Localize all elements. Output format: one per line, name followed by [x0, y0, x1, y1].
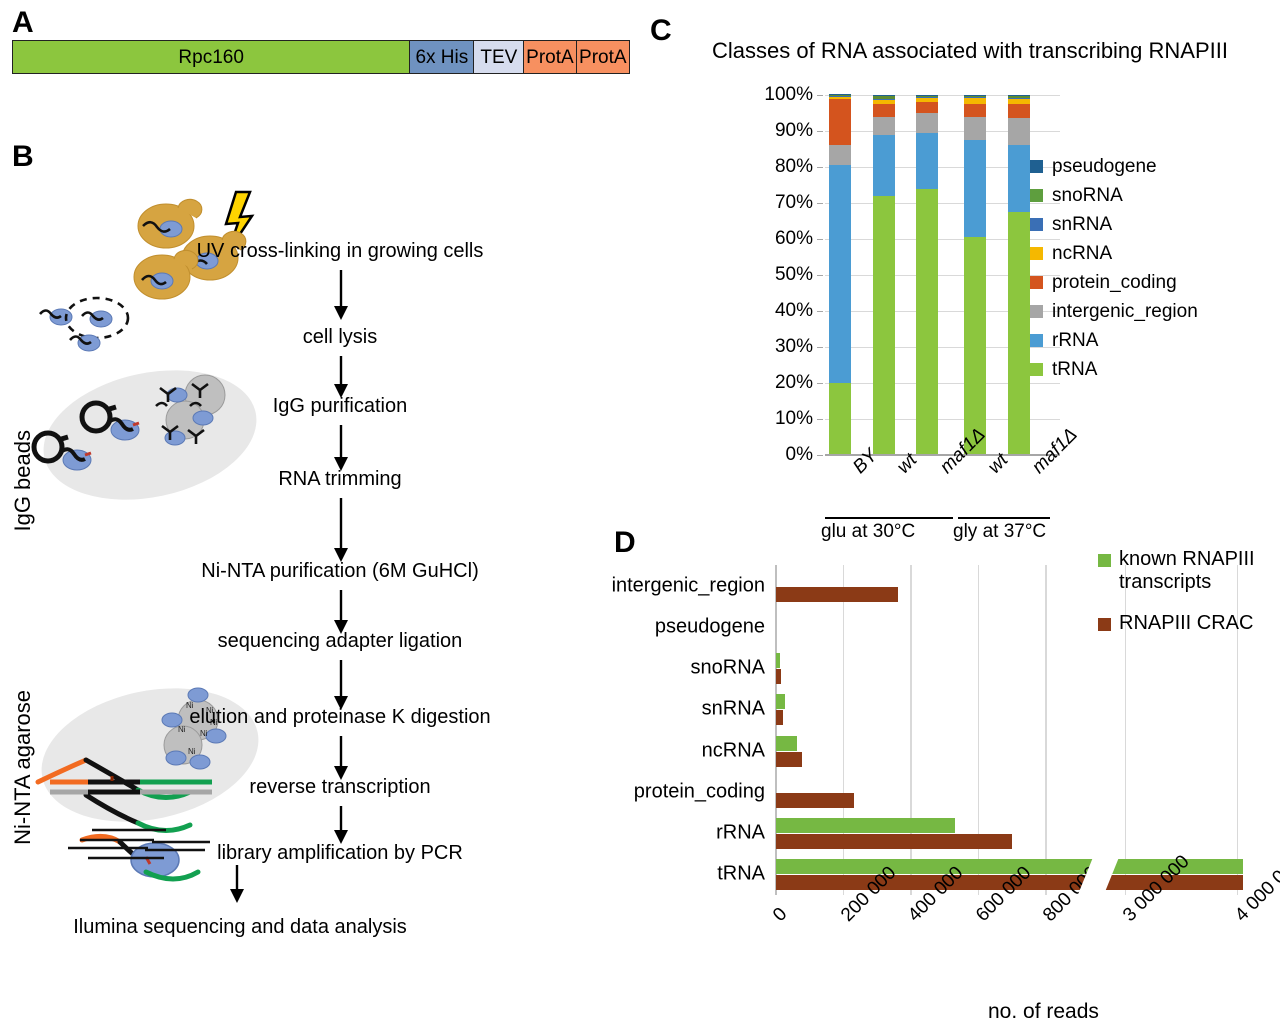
y-axis-category-label: ncRNA — [585, 739, 765, 762]
flow-step-uv-crosslinking: UV cross-linking in growing cells — [120, 240, 560, 263]
y-axis-tick-mark — [817, 203, 823, 204]
legend-swatch — [1030, 305, 1043, 318]
y-axis-tick-mark — [817, 311, 823, 312]
y-axis-category-label: snoRNA — [585, 657, 765, 680]
bar-segment-rrna — [916, 133, 938, 189]
bar-segment-rrna — [829, 165, 851, 383]
bar-segment-trna — [964, 237, 986, 455]
bar-segment-rrna — [1008, 145, 1030, 212]
svg-text:Ni: Ni — [188, 747, 196, 756]
legend-swatch — [1030, 160, 1043, 173]
legend-label: tRNA — [1052, 359, 1097, 381]
construct-segment-label: Rpc160 — [178, 48, 244, 67]
legend-item-trna[interactable]: tRNA — [1030, 355, 1198, 384]
legend-swatch — [1030, 218, 1043, 231]
y-axis-tick-mark — [817, 347, 823, 348]
flow-step-cell-lysis: cell lysis — [120, 326, 560, 349]
bar-segment-ncrna — [1008, 98, 1030, 104]
x-axis-tick-label: 400 000 — [904, 862, 968, 926]
legend-item-rnapiii-crac[interactable]: RNAPIII CRAC — [1098, 612, 1280, 635]
flow-step-rna-trimming: RNA trimming — [120, 468, 560, 491]
y-axis-category-label: tRNA — [585, 863, 765, 886]
stacked-bar — [829, 95, 851, 455]
legend-swatch — [1098, 618, 1111, 631]
legend-item-ncrna[interactable]: ncRNA — [1030, 239, 1198, 268]
flow-step-library-amplification: library amplification by PCR — [100, 842, 580, 865]
x-axis-tick-label: 600 000 — [972, 862, 1036, 926]
flow-arrow-3 — [329, 425, 353, 473]
flow-step-reverse-transcription: reverse transcription — [100, 776, 580, 799]
y-axis-tick-mark — [817, 239, 823, 240]
y-axis-category-label: rRNA — [585, 822, 765, 845]
y-axis-tick-label: 70% — [743, 192, 813, 214]
bar-segment-snrna — [964, 97, 986, 98]
legend-label: RNAPIII CRAC — [1119, 612, 1253, 635]
x-axis-tick-label: 200 000 — [837, 862, 901, 926]
flow-step-adapter-ligation: sequencing adapter ligation — [100, 630, 580, 653]
panel-d-x-axis-title: no. of reads — [988, 1000, 1099, 1024]
legend-swatch — [1030, 189, 1043, 202]
flow-arrow-1 — [329, 270, 353, 322]
free-polymerase-group — [40, 298, 128, 351]
bar-segment-trna — [1008, 212, 1030, 455]
y-axis-category-label: pseudogene — [585, 615, 765, 638]
bar-segment-snrna — [1008, 98, 1030, 99]
stacked-bar — [873, 95, 895, 455]
bar-segment-pseudogene — [873, 95, 895, 96]
bar-segment-intergenic_region — [829, 145, 851, 165]
flow-arrow-6 — [329, 660, 353, 712]
y-axis-tick-mark — [817, 455, 823, 456]
svg-text:Ni: Ni — [200, 729, 208, 738]
y-axis-tick-label: 40% — [743, 300, 813, 322]
y-axis-tick-mark — [817, 383, 823, 384]
bar-segment-snorna — [1008, 95, 1030, 97]
bar-segment-protein_coding — [873, 104, 895, 117]
panel-b: B IgG beads Ni-NTA agarose — [0, 130, 650, 960]
final-flow-arrow — [225, 865, 249, 905]
bar-segment-ncrna — [829, 97, 851, 98]
legend-label: pseudogene — [1052, 156, 1157, 178]
legend-label: intergenic_region — [1052, 301, 1198, 323]
panel-c-legend: pseudogenesnoRNAsnRNAncRNAprotein_coding… — [1030, 152, 1198, 384]
x-axis-tick-label: 4 000 000 — [1231, 851, 1280, 926]
y-axis-category-label: snRNA — [585, 698, 765, 721]
construct-segment-his: 6x His — [410, 41, 474, 73]
bar-segment-ncrna — [916, 98, 938, 102]
group-underline — [958, 517, 1050, 519]
legend-item-intergenic_region[interactable]: intergenic_region — [1030, 297, 1198, 326]
legend-label: snRNA — [1052, 214, 1112, 236]
bar-segment-snorna — [916, 95, 938, 97]
flow-step-illumina-sequencing: Ilumina sequencing and data analysis — [0, 916, 480, 939]
flow-arrow-2 — [329, 356, 353, 400]
y-axis-tick-label: 90% — [743, 120, 813, 142]
bar-segment-rrna — [964, 140, 986, 237]
y-axis-category-label: protein_coding — [585, 780, 765, 803]
flow-arrow-8 — [329, 806, 353, 846]
flow-arrow-4 — [329, 498, 353, 564]
y-axis-tick-label: 20% — [743, 372, 813, 394]
y-axis-tick-label: 10% — [743, 408, 813, 430]
bar-segment-intergenic_region — [1008, 118, 1030, 145]
rpc160-construct-diagram: Rpc160 6x His TEV ProtA ProtA — [12, 40, 630, 74]
bar-segment-snorna — [964, 95, 986, 97]
legend-swatch — [1030, 363, 1043, 376]
legend-label: rRNA — [1052, 330, 1098, 352]
legend-item-known-transcripts[interactable]: known RNAPIII transcripts — [1098, 548, 1280, 594]
panel-a-letter: A — [12, 6, 34, 40]
panel-c-letter: C — [650, 14, 672, 48]
bar-segment-protein_coding — [829, 99, 851, 146]
flow-step-elution-proteinase: elution and proteinase K digestion — [100, 706, 580, 729]
legend-label: protein_coding — [1052, 272, 1177, 294]
y-axis-tick-label: 0% — [743, 444, 813, 466]
bar-segment-intergenic_region — [873, 117, 895, 135]
legend-label: snoRNA — [1052, 185, 1123, 207]
construct-segment-label: ProtA — [526, 48, 574, 67]
y-axis-category-label: intergenic_region — [585, 574, 765, 597]
y-axis-tick-mark — [817, 167, 823, 168]
y-axis-tick-label: 50% — [743, 264, 813, 286]
legend-item-snorna[interactable]: snoRNA — [1030, 181, 1198, 210]
flow-step-ni-nta-purification: Ni-NTA purification (6M GuHCl) — [100, 560, 580, 583]
construct-segment-tev: TEV — [474, 41, 524, 73]
construct-segment-label: 6x His — [415, 48, 468, 67]
bar-segment-rrna — [873, 135, 895, 196]
x-axis-baseline — [825, 454, 1060, 456]
legend-swatch — [1030, 247, 1043, 260]
legend-item-pseudogene[interactable]: pseudogene — [1030, 152, 1198, 181]
bar-segment-snrna — [916, 97, 938, 98]
construct-segment-rpc160: Rpc160 — [13, 41, 410, 73]
panel-c-plot-area — [825, 95, 1060, 455]
bar-segment-protein_coding — [964, 104, 986, 117]
construct-segment-label: TEV — [480, 48, 517, 67]
stacked-bar — [964, 95, 986, 455]
construct-segment-label: ProtA — [579, 48, 627, 67]
y-axis-tick-mark — [817, 419, 823, 420]
bar-segment-snorna — [873, 96, 895, 99]
legend-item-snrna[interactable]: snRNA — [1030, 210, 1198, 239]
legend-swatch — [1098, 554, 1111, 567]
y-axis-tick-mark — [817, 275, 823, 276]
bar-segment-snorna — [829, 94, 851, 96]
bar-segment-snrna — [829, 96, 851, 97]
bar-segment-protein_coding — [916, 102, 938, 113]
y-axis-tick-label: 30% — [743, 336, 813, 358]
bar-segment-trna — [916, 189, 938, 455]
y-axis-tick-mark — [817, 95, 823, 96]
bar-segment-ncrna — [964, 98, 986, 104]
bar-segment-protein_coding — [1008, 104, 1030, 118]
bar-segment-ncrna — [873, 99, 895, 104]
legend-label: ncRNA — [1052, 243, 1112, 265]
bar-segment-intergenic_region — [916, 113, 938, 133]
x-axis-tick-label: 0 — [769, 904, 792, 927]
legend-swatch — [1030, 334, 1043, 347]
bar-segment-snrna — [873, 99, 895, 100]
stacked-bar — [1008, 95, 1030, 455]
flow-step-igg-purification: IgG purification — [120, 395, 560, 418]
bar-segment-trna — [873, 196, 895, 455]
panel-c: C Classes of RNA associated with transcr… — [650, 0, 1280, 520]
construct-segment-prota-2: ProtA — [577, 41, 629, 73]
panel-a: A Rpc160 6x His TEV ProtA ProtA — [0, 0, 650, 100]
y-axis-tick-label: 100% — [743, 84, 813, 106]
bar-segment-intergenic_region — [964, 117, 986, 140]
panel-d: D 0200 000400 000600 000800 0003 000 000… — [590, 520, 1280, 1033]
bar-segment-trna — [829, 383, 851, 455]
panel-c-title: Classes of RNA associated with transcrib… — [670, 38, 1270, 64]
construct-segment-prota-1: ProtA — [524, 41, 576, 73]
y-axis-tick-label: 60% — [743, 228, 813, 250]
legend-item-rrna[interactable]: rRNA — [1030, 326, 1198, 355]
legend-swatch — [1030, 276, 1043, 289]
stacked-bar — [916, 95, 938, 455]
legend-label: known RNAPIII transcripts — [1119, 548, 1280, 594]
panel-d-legend: known RNAPIII transcriptsRNAPIII CRAC — [1098, 548, 1280, 653]
y-axis-tick-label: 80% — [743, 156, 813, 178]
x-axis-tick-label: 3 000 000 — [1119, 851, 1194, 926]
legend-item-protein_coding[interactable]: protein_coding — [1030, 268, 1198, 297]
y-axis-tick-mark — [817, 131, 823, 132]
group-underline — [825, 517, 953, 519]
